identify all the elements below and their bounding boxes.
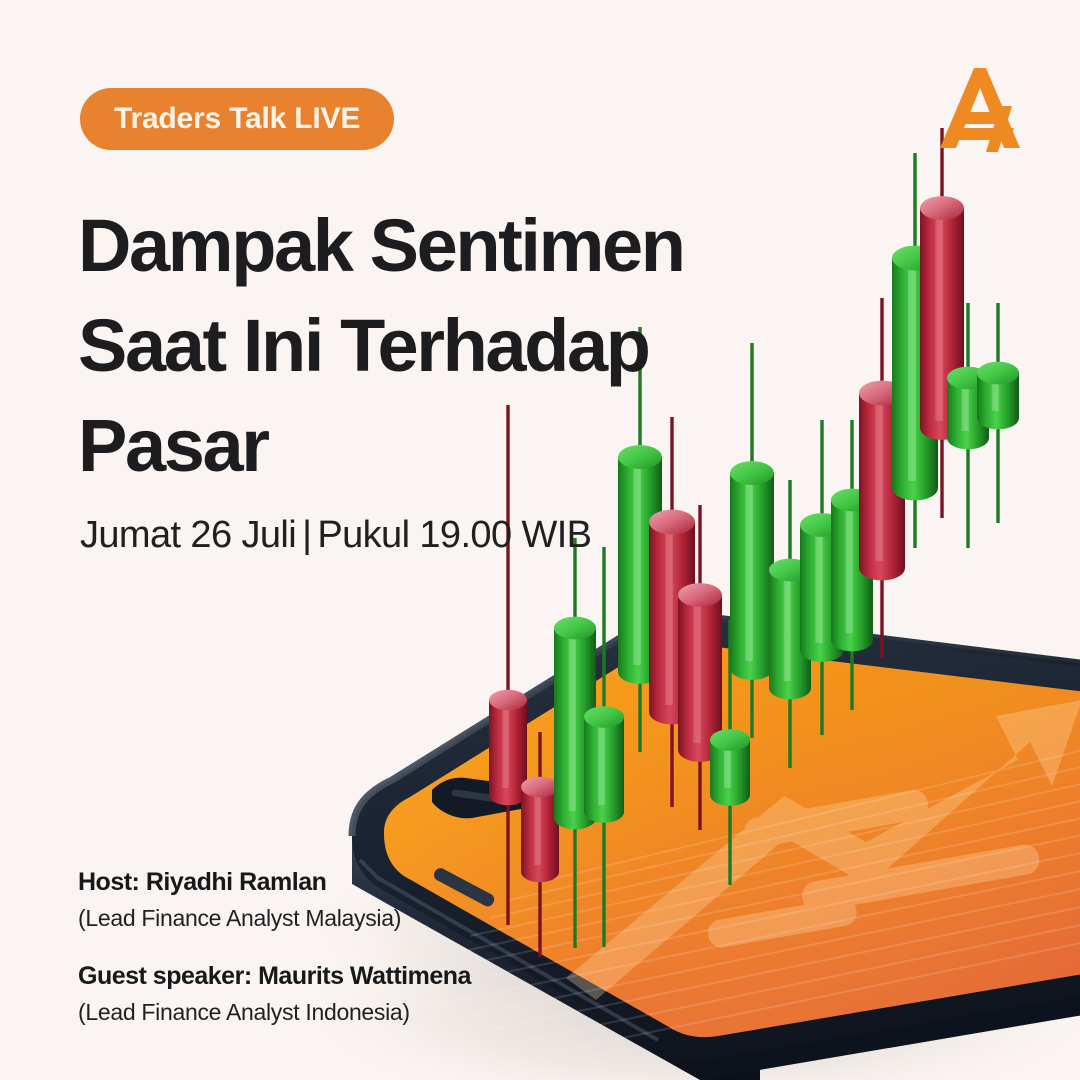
event-datetime: Jumat 26 Juli|Pukul 19.00 WIB [80, 514, 591, 557]
credits-block: Host: Riyadhi Ramlan (Lead Finance Analy… [78, 866, 471, 1054]
headline-line-3: Pasar [78, 396, 838, 496]
host-role: (Lead Finance Analyst Malaysia) [78, 902, 471, 934]
host-name: Host: Riyadhi Ramlan [78, 866, 471, 898]
host-credit: Host: Riyadhi Ramlan (Lead Finance Analy… [78, 866, 471, 934]
traders-talk-live-badge[interactable]: Traders Talk LIVE [80, 88, 394, 150]
guest-role: (Lead Finance Analyst Indonesia) [78, 996, 471, 1028]
guest-credit: Guest speaker: Maurits Wattimena (Lead F… [78, 960, 471, 1028]
page-title: Dampak Sentimen Saat Ini Terhadap Pasar [78, 196, 838, 496]
headline-line-1: Dampak Sentimen [78, 196, 838, 296]
headline-line-2: Saat Ini Terhadap [78, 296, 838, 396]
guest-name: Guest speaker: Maurits Wattimena [78, 960, 471, 992]
datetime-separator: | [296, 514, 317, 556]
ajaib-a-logo [928, 62, 1028, 154]
event-date: Jumat 26 Juli [80, 514, 296, 556]
event-time: Pukul 19.00 WIB [317, 514, 591, 556]
promo-poster: Traders Talk LIVE Dampak Sentimen Saat I… [0, 0, 1080, 1080]
